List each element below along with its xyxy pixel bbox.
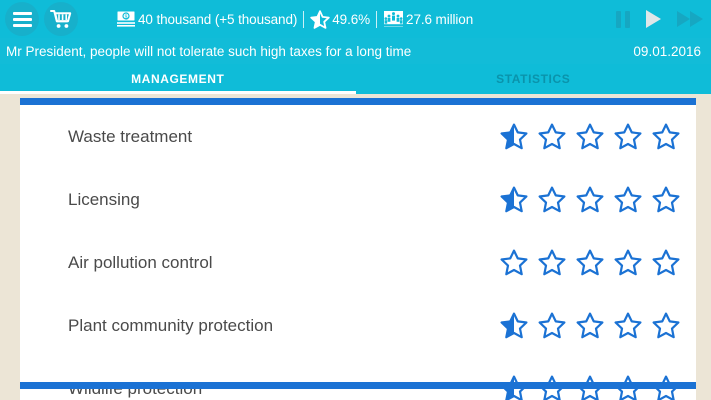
tab-statistics[interactable]: STATISTICS (356, 64, 711, 94)
rating-star[interactable] (576, 249, 604, 276)
management-row-label: Air pollution control (68, 253, 500, 273)
rating-star[interactable] (500, 312, 528, 339)
management-row-rating[interactable] (500, 186, 680, 213)
rating-star[interactable] (614, 186, 642, 213)
stat-approval: 49.6% (310, 10, 370, 29)
rating-star[interactable] (614, 249, 642, 276)
resource-stats: $ 40 thousand (+5 thousand) 49.6% (116, 10, 473, 29)
tab-management[interactable]: MANAGEMENT (0, 64, 356, 94)
management-row[interactable]: Plant community protection (20, 294, 696, 357)
panel-bottom-accent-bar (20, 382, 696, 389)
management-row[interactable]: Waste treatment (20, 105, 696, 168)
rating-star[interactable] (576, 312, 604, 339)
rating-star[interactable] (652, 123, 680, 150)
money-stack-icon: $ (116, 10, 136, 28)
rating-star[interactable] (500, 123, 528, 150)
rating-star[interactable] (576, 186, 604, 213)
stat-divider-2 (376, 11, 377, 28)
rating-star[interactable] (538, 249, 566, 276)
management-row[interactable]: Licensing (20, 168, 696, 231)
stat-approval-value: 49.6% (332, 12, 370, 27)
pause-button[interactable] (616, 11, 630, 28)
rating-star[interactable] (652, 249, 680, 276)
shopping-cart-icon (50, 9, 72, 29)
management-row-label: Licensing (68, 190, 500, 210)
rating-star[interactable] (538, 123, 566, 150)
rating-star[interactable] (614, 312, 642, 339)
top-status-bar: $ 40 thousand (+5 thousand) 49.6% (0, 0, 711, 38)
rating-star[interactable] (652, 312, 680, 339)
speed-controls (616, 0, 703, 38)
rating-star[interactable] (500, 186, 528, 213)
panel-top-accent-bar (20, 98, 696, 105)
hamburger-menu-icon (13, 12, 32, 27)
fast-forward-button[interactable] (677, 11, 703, 27)
news-ticker: Mr President, people will not tolerate s… (0, 38, 711, 64)
hamburger-menu-button[interactable] (5, 2, 39, 36)
svg-text:$: $ (125, 14, 128, 20)
management-row-label: Plant community protection (68, 316, 500, 336)
rating-star[interactable] (576, 123, 604, 150)
rating-star[interactable] (538, 186, 566, 213)
population-icon (383, 10, 404, 28)
management-row-list: Waste treatment (20, 105, 696, 400)
stat-money: $ 40 thousand (+5 thousand) (116, 10, 297, 28)
rating-star[interactable] (538, 312, 566, 339)
stat-divider (303, 11, 304, 28)
rating-star[interactable] (652, 186, 680, 213)
management-panel: Waste treatment (20, 98, 696, 400)
star-rating-icon (310, 10, 330, 29)
news-ticker-message: Mr President, people will not tolerate s… (6, 44, 411, 59)
management-row[interactable]: Wildlife protection (20, 357, 696, 400)
game-date: 09.01.2016 (633, 44, 701, 59)
management-row-rating[interactable] (500, 312, 680, 339)
stat-population: 27.6 million (383, 10, 473, 28)
management-row-label: Waste treatment (68, 127, 500, 147)
shop-button[interactable] (44, 2, 78, 36)
stat-money-value: 40 thousand (+5 thousand) (138, 12, 297, 27)
management-row-rating[interactable] (500, 249, 680, 276)
stat-population-value: 27.6 million (406, 12, 473, 27)
tab-bar: MANAGEMENT STATISTICS (0, 64, 711, 94)
management-row[interactable]: Air pollution control (20, 231, 696, 294)
management-row-rating[interactable] (500, 123, 680, 150)
play-button[interactable] (646, 10, 661, 28)
rating-star[interactable] (500, 249, 528, 276)
rating-star[interactable] (614, 123, 642, 150)
